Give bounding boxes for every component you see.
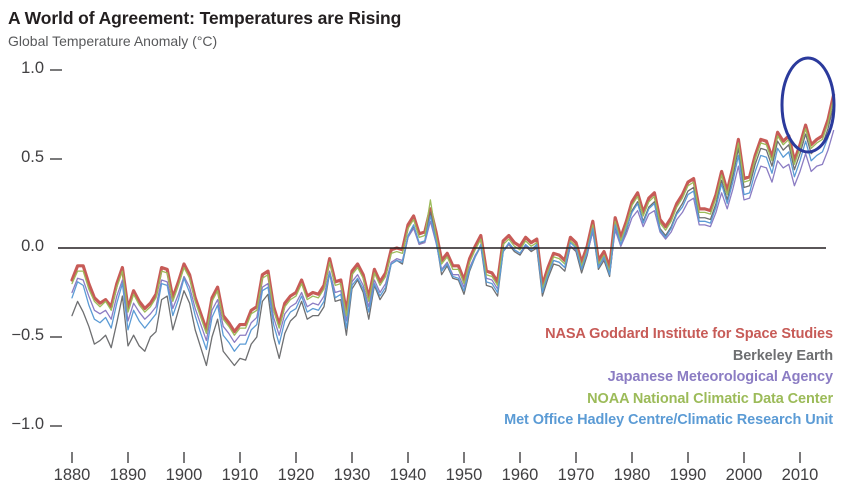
y-tick-label: 0.5: [0, 148, 44, 167]
x-tick-label: 1900: [154, 466, 214, 485]
x-tick-label: 1960: [490, 466, 550, 485]
x-tick-label: 1910: [210, 466, 270, 485]
x-tick-label: 1930: [322, 466, 382, 485]
x-tick-label: 2000: [714, 466, 774, 485]
x-tick-label: 1950: [434, 466, 494, 485]
climate-chart: A World of Agreement: Temperatures are R…: [0, 0, 846, 492]
x-axis-ticks: [72, 452, 800, 463]
y-tick-label: −1.0: [0, 415, 44, 434]
series-line-4: [72, 113, 834, 352]
x-tick-label: 1880: [42, 466, 102, 485]
x-tick-label: 1940: [378, 466, 438, 485]
x-tick-label: 1980: [602, 466, 662, 485]
series-line-3: [72, 98, 834, 335]
x-tick-label: 2010: [770, 466, 830, 485]
x-tick-label: 1970: [546, 466, 606, 485]
y-tick-label: 1.0: [0, 59, 44, 78]
series-line-2: [72, 131, 834, 343]
legend-item-3[interactable]: NOAA National Climatic Data Center: [504, 389, 833, 411]
legend-item-0[interactable]: NASA Goddard Institute for Space Studies: [504, 324, 833, 346]
legend-item-4[interactable]: Met Office Hadley Centre/Climatic Resear…: [504, 410, 833, 432]
y-tick-label: 0.0: [0, 237, 44, 256]
legend: NASA Goddard Institute for Space Studies…: [504, 324, 833, 432]
x-tick-label: 1990: [658, 466, 718, 485]
legend-item-2[interactable]: Japanese Meteorological Agency: [504, 367, 833, 389]
legend-item-1[interactable]: Berkeley Earth: [504, 346, 833, 368]
x-tick-label: 1920: [266, 466, 326, 485]
y-tick-label: −0.5: [0, 326, 44, 345]
x-tick-label: 1890: [98, 466, 158, 485]
